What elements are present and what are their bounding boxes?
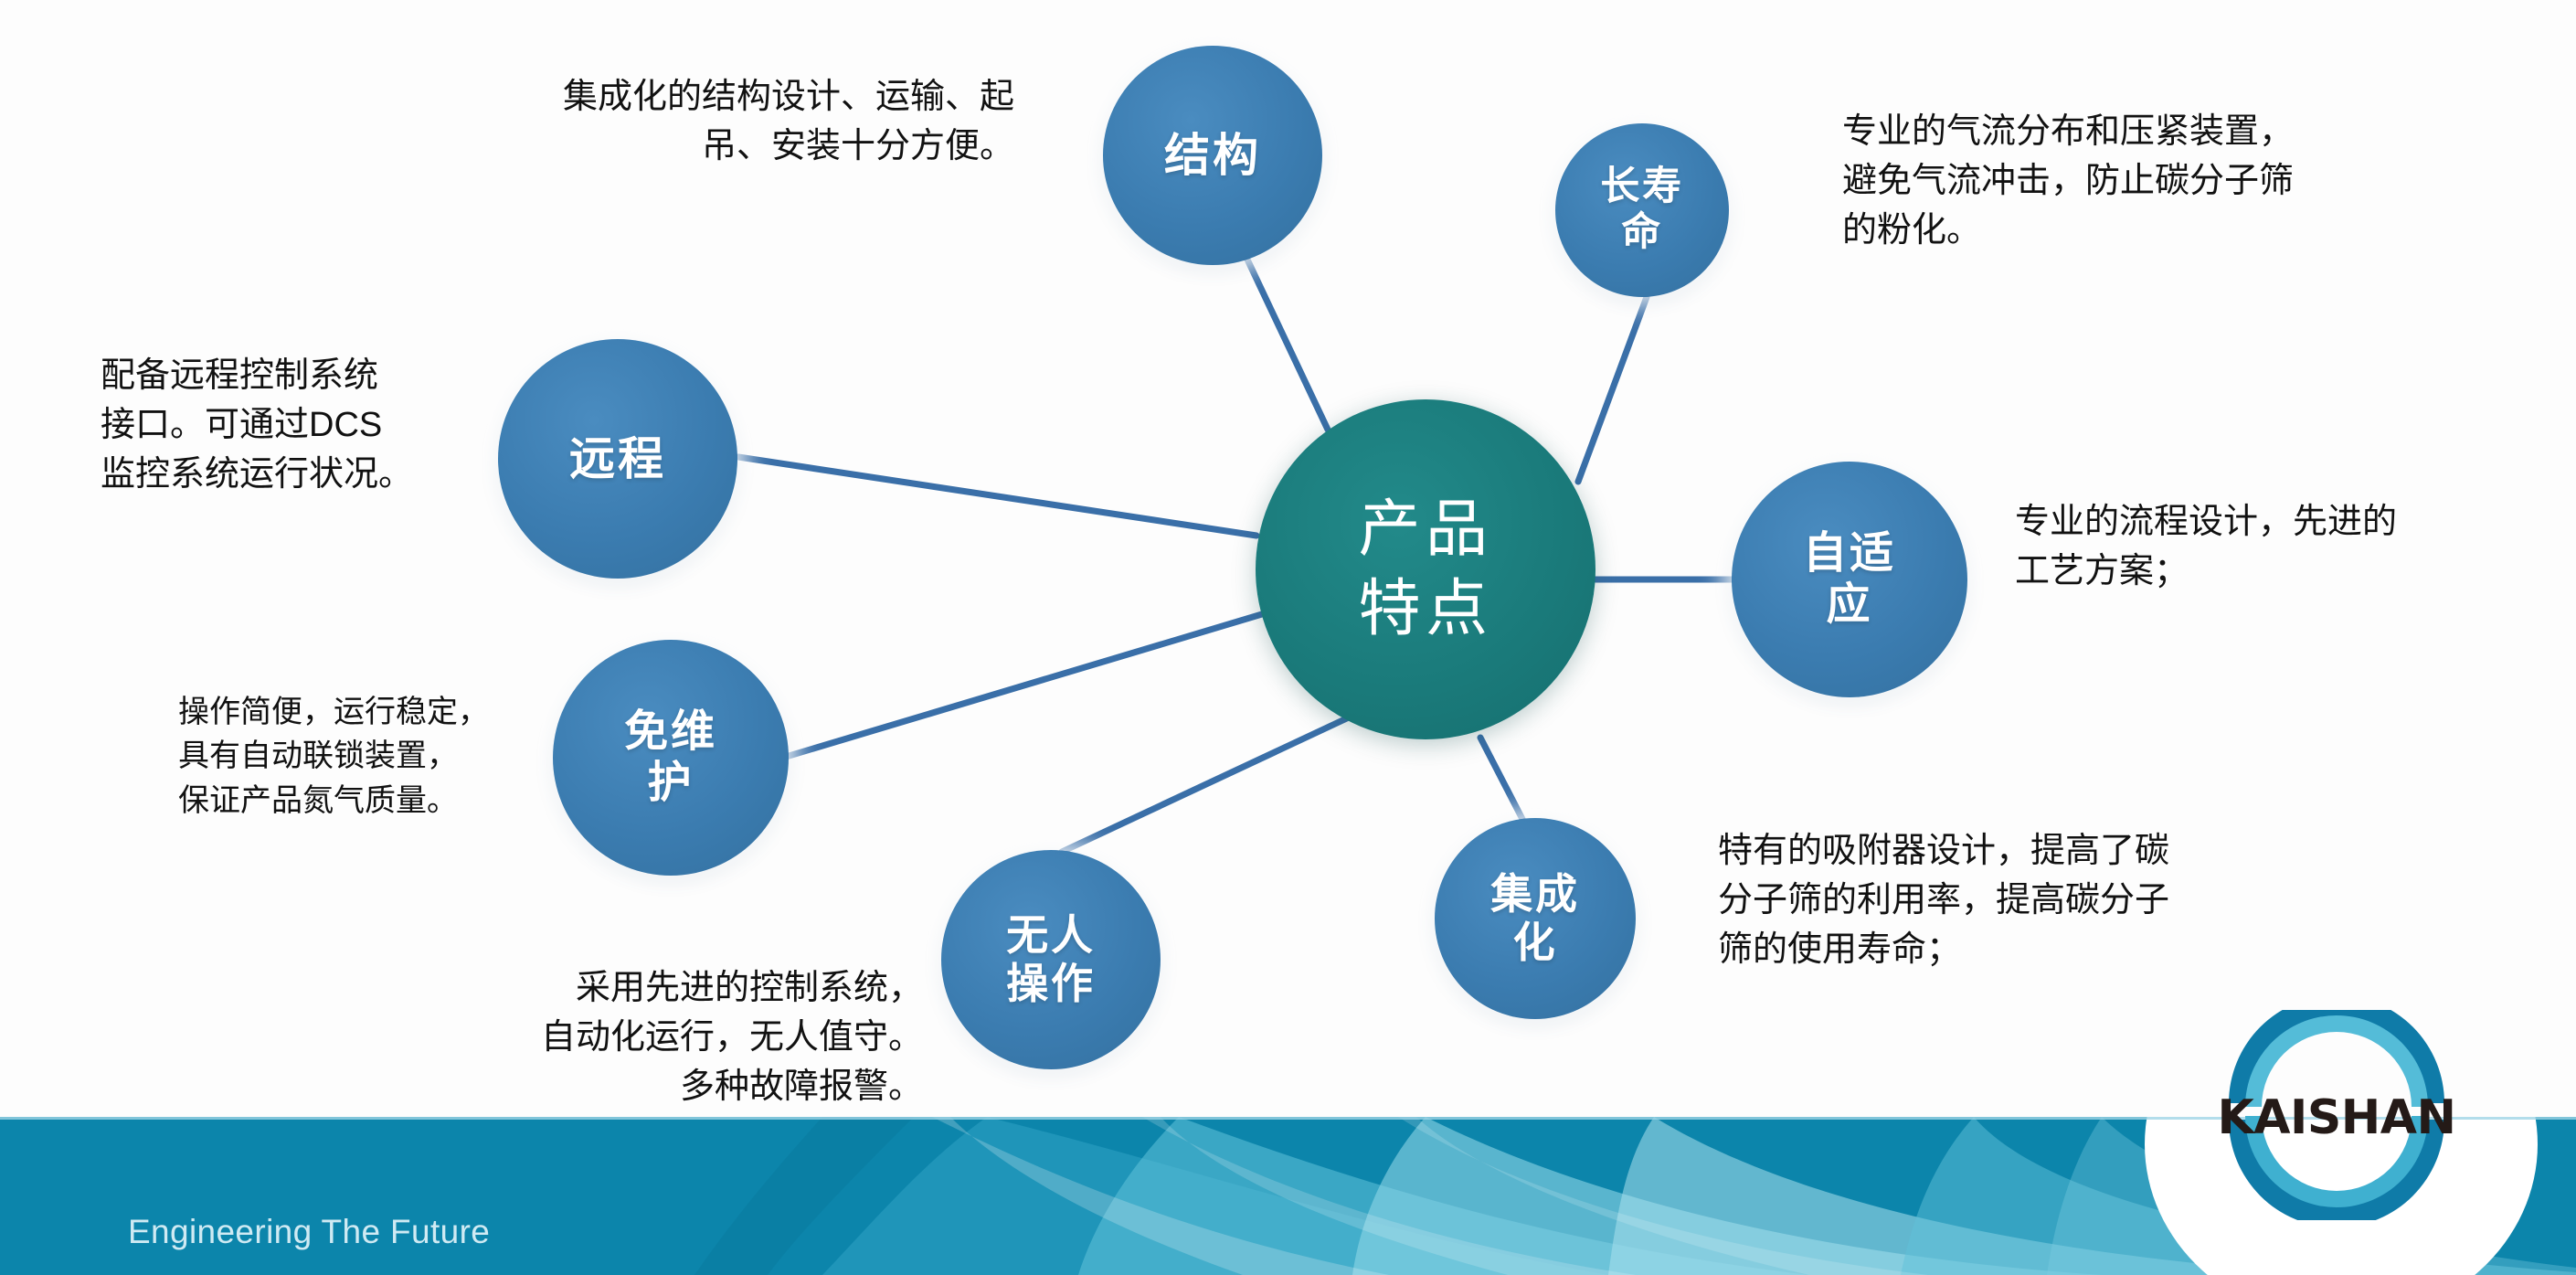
note-wuren: 采用先进的控制系统， 自动化运行，无人值守。 多种故障报警。 bbox=[402, 964, 923, 1112]
tagline: Engineering The Future bbox=[128, 1213, 490, 1251]
node-wuren-label: 无人 操作 bbox=[1006, 911, 1096, 1009]
note-jiegou: 集成化的结构设计、运输、起 吊、安装十分方便。 bbox=[384, 73, 1014, 172]
kaishan-wordmark: KAISHAN bbox=[2168, 1090, 2506, 1145]
node-jichenghua[interactable]: 集成 化 bbox=[1435, 818, 1636, 1019]
connector-yuancheng bbox=[738, 457, 1256, 536]
note-zishiying: 专业的流程设计，先进的 工艺方案； bbox=[2015, 498, 2563, 597]
center-node-label: 产品 特点 bbox=[1359, 490, 1493, 649]
note-yuancheng: 配备远程控制系统 接口。可通过DCS 监控系统运行状况。 bbox=[101, 352, 503, 500]
note-changshou: 专业的气流分布和压紧装置， 避免气流冲击，防止碳分子筛 的粉化。 bbox=[1842, 108, 2372, 256]
center-node[interactable]: 产品 特点 bbox=[1256, 399, 1595, 739]
node-yuancheng-label: 远程 bbox=[569, 432, 666, 485]
node-yuancheng[interactable]: 远程 bbox=[498, 339, 737, 579]
kaishan-logo: KAISHAN bbox=[2168, 1010, 2506, 1220]
node-jiegou-label: 结构 bbox=[1164, 129, 1261, 182]
node-mianweihu[interactable]: 免维 护 bbox=[553, 640, 789, 876]
connector-jichenghua bbox=[1480, 738, 1524, 823]
node-jiegou[interactable]: 结构 bbox=[1103, 46, 1322, 265]
connector-changshou bbox=[1578, 297, 1647, 482]
node-jichenghua-label: 集成 化 bbox=[1490, 870, 1580, 968]
node-zishiying-label: 自适 应 bbox=[1803, 528, 1896, 630]
connector-mianweihu bbox=[786, 614, 1262, 757]
node-changshou-label: 长寿 命 bbox=[1600, 165, 1683, 256]
node-zishiying[interactable]: 自适 应 bbox=[1732, 462, 1967, 697]
node-wuren[interactable]: 无人 操作 bbox=[941, 850, 1161, 1069]
note-jichenghua: 特有的吸附器设计，提高了碳 分子筛的利用率，提高碳分子 筛的使用寿命； bbox=[1718, 827, 2284, 975]
note-mianweihu: 操作简便，运行稳定， 具有自动联锁装置， 保证产品氮气质量。 bbox=[178, 690, 544, 823]
slide-canvas: 产品 特点 结构 长寿 命 远程 自适 应 免维 护 集成 化 无人 操作 集成… bbox=[0, 0, 2576, 1275]
node-changshou[interactable]: 长寿 命 bbox=[1555, 123, 1729, 297]
node-mianweihu-label: 免维 护 bbox=[624, 707, 717, 808]
connector-wuren bbox=[1062, 717, 1351, 852]
